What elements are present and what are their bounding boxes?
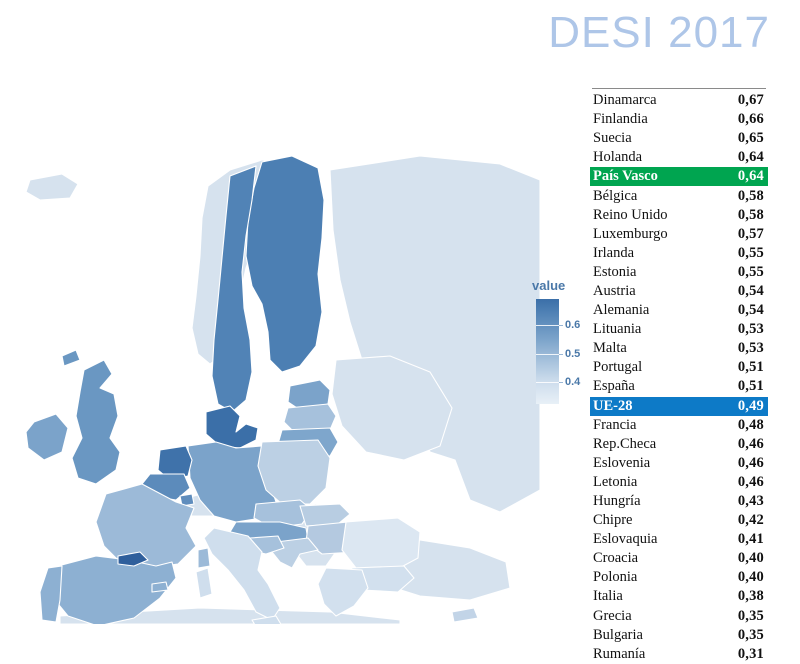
row-country-label: Dinamarca	[593, 92, 657, 109]
row-country-label: Luxemburgo	[593, 226, 668, 243]
row-country-label: Suecia	[593, 130, 632, 147]
row-value: 0,40	[738, 569, 764, 586]
row-country-label: Estonia	[593, 264, 637, 281]
table-row: Luxemburgo0,57	[590, 225, 768, 244]
legend-colorbar	[536, 299, 559, 404]
table-row: Dinamarca0,67	[590, 91, 768, 110]
table-row: Bélgica0,58	[590, 186, 768, 205]
table-row: Malta0,53	[590, 339, 768, 358]
table-row: País Vasco0,64	[590, 167, 768, 186]
table-row: Hungría0,43	[590, 492, 768, 511]
europe-choropleth-map: .c{stroke:#ffffff;stroke-width:1.1;strok…	[0, 60, 540, 624]
row-country-label: Austria	[593, 283, 636, 300]
table-row: UE-280,49	[590, 397, 768, 416]
row-value: 0,55	[738, 245, 764, 262]
row-value: 0,35	[738, 608, 764, 625]
row-value: 0,42	[738, 512, 764, 529]
row-value: 0,46	[738, 474, 764, 491]
row-value: 0,54	[738, 283, 764, 300]
region-greece	[318, 568, 368, 616]
row-value: 0,31	[738, 646, 764, 663]
page-title: DESI 2017	[548, 8, 770, 58]
map-svg: .c{stroke:#ffffff;stroke-width:1.1;strok…	[0, 60, 540, 624]
row-country-label: Bulgaria	[593, 627, 643, 644]
row-country-label: Rep.Checa	[593, 436, 656, 453]
row-value: 0,51	[738, 359, 764, 376]
table-row: Croacia0,40	[590, 549, 768, 568]
row-country-label: Holanda	[593, 149, 642, 166]
table-row: Eslovenia0,46	[590, 454, 768, 473]
region-finland	[246, 156, 324, 372]
region-cyprus	[452, 608, 478, 622]
row-country-label: Eslovenia	[593, 455, 650, 472]
legend-tick-mark	[536, 354, 559, 355]
row-country-label: País Vasco	[593, 168, 658, 185]
table-row: Suecia0,65	[590, 129, 768, 148]
legend-tick-mark	[536, 382, 559, 383]
row-country-label: España	[593, 378, 635, 395]
row-value: 0,46	[738, 436, 764, 453]
table-row: Grecia0,35	[590, 607, 768, 626]
table-row: Rumanía0,31	[590, 645, 768, 664]
table-row: Francia0,48	[590, 416, 768, 435]
region-spain-balearic	[152, 582, 168, 592]
table-row: Eslovaquia0,41	[590, 530, 768, 549]
row-value: 0,40	[738, 550, 764, 567]
region-united-kingdom	[72, 360, 120, 484]
table-row: Chipre0,42	[590, 511, 768, 530]
legend-tick-mark	[536, 325, 559, 326]
legend-tick-stub	[559, 325, 563, 326]
legend-title: value	[532, 278, 565, 293]
row-value: 0,51	[738, 378, 764, 395]
table-rows-container: Dinamarca0,67Finlandia0,66Suecia0,65Hola…	[590, 91, 768, 664]
row-value: 0,58	[738, 188, 764, 205]
row-value: 0,57	[738, 226, 764, 243]
table-row: Italia0,38	[590, 587, 768, 606]
table-row: Rep.Checa0,46	[590, 435, 768, 454]
ranking-table: Dinamarca0,67Finlandia0,66Suecia0,65Hola…	[590, 88, 768, 664]
table-row: Finlandia0,66	[590, 110, 768, 129]
table-row: Irlanda0,55	[590, 244, 768, 263]
table-row: España0,51	[590, 377, 768, 396]
row-country-label: Reino Unido	[593, 207, 668, 224]
legend-tick-label: 0.4	[565, 376, 580, 388]
row-value: 0,58	[738, 207, 764, 224]
table-row: Reino Unido0,58	[590, 206, 768, 225]
table-row: Bulgaria0,35	[590, 626, 768, 645]
row-value: 0,67	[738, 92, 764, 109]
legend-tick-label: 0.5	[565, 348, 580, 360]
row-value: 0,65	[738, 130, 764, 147]
row-value: 0,64	[738, 149, 764, 166]
region-uk-scotland-isles	[62, 350, 80, 366]
row-country-label: Francia	[593, 417, 636, 434]
row-value: 0,38	[738, 588, 764, 605]
row-country-label: Italia	[593, 588, 623, 605]
row-value: 0,49	[738, 398, 764, 415]
row-country-label: Bélgica	[593, 188, 637, 205]
row-country-label: Polonia	[593, 569, 637, 586]
row-country-label: Rumanía	[593, 646, 645, 663]
map-legend: value 0.60.50.4	[524, 278, 594, 413]
table-row: Estonia0,55	[590, 263, 768, 282]
region-france-corsica	[198, 548, 210, 568]
row-country-label: Croacia	[593, 550, 638, 567]
region-ireland	[26, 414, 68, 460]
row-country-label: UE-28	[593, 398, 632, 415]
legend-tick-label: 0.6	[565, 319, 580, 331]
row-value: 0,53	[738, 340, 764, 357]
desi-2017-infographic: DESI 2017 .c{stroke:#ffffff;stroke-width…	[0, 0, 800, 624]
row-country-label: Irlanda	[593, 245, 634, 262]
table-row: Portugal0,51	[590, 358, 768, 377]
row-country-label: Hungría	[593, 493, 641, 510]
legend-tick-stub	[559, 382, 563, 383]
row-country-label: Malta	[593, 340, 627, 357]
region-portugal	[40, 566, 62, 622]
row-country-label: Chipre	[593, 512, 632, 529]
row-value: 0,41	[738, 531, 764, 548]
table-row: Holanda0,64	[590, 148, 768, 167]
table-row: Alemania0,54	[590, 301, 768, 320]
table-row: Lituania0,53	[590, 320, 768, 339]
region-denmark	[206, 406, 258, 448]
row-value: 0,64	[738, 168, 764, 185]
row-value: 0,43	[738, 493, 764, 510]
row-country-label: Lituania	[593, 321, 641, 338]
row-country-label: Letonia	[593, 474, 637, 491]
row-value: 0,54	[738, 302, 764, 319]
legend-tick-stub	[559, 354, 563, 355]
row-country-label: Finlandia	[593, 111, 648, 128]
row-country-label: Portugal	[593, 359, 642, 376]
row-country-label: Alemania	[593, 302, 649, 319]
row-value: 0,46	[738, 455, 764, 472]
row-value: 0,53	[738, 321, 764, 338]
row-country-label: Grecia	[593, 608, 632, 625]
row-value: 0,48	[738, 417, 764, 434]
table-row: Letonia0,46	[590, 473, 768, 492]
row-value: 0,55	[738, 264, 764, 281]
row-country-label: Eslovaquia	[593, 531, 657, 548]
table-row: Polonia0,40	[590, 568, 768, 587]
row-value: 0,35	[738, 627, 764, 644]
row-value: 0,66	[738, 111, 764, 128]
table-top-divider	[592, 88, 766, 89]
table-row: Austria0,54	[590, 282, 768, 301]
region-italy-sardinia	[196, 568, 212, 598]
